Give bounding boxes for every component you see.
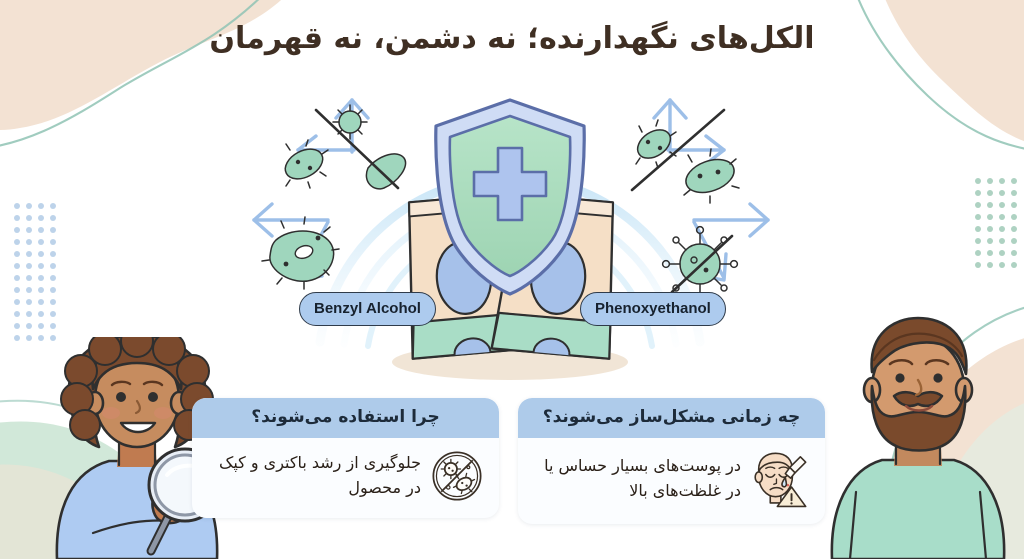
no-bacteria-icon xyxy=(429,448,485,504)
shield-and-tubes-illustration xyxy=(232,92,792,382)
sensitive-skin-warning-icon xyxy=(749,448,811,510)
germ-lower xyxy=(454,474,475,494)
page-title: الکل‌های نگهدارنده؛ نه دشمن، نه قهرمان xyxy=(0,18,1024,61)
pill-phenoxyethanol[interactable]: Phenoxyethanol xyxy=(580,292,726,326)
card-why-used-body: جلوگیری از رشد باکتری و کپک در محصول xyxy=(192,438,499,518)
card-when-problematic-body: در پوست‌های بسیار حساس یا در غلظت‌های با… xyxy=(518,438,825,524)
germ-blob-left-lower xyxy=(262,217,339,289)
character-bearded-man xyxy=(820,316,1024,559)
card-why-used-text: جلوگیری از رشد باکتری و کپک در محصول xyxy=(202,451,421,501)
woman-eye-left xyxy=(116,392,126,402)
card-why-used: چرا استفاده می‌شوند؟ xyxy=(192,398,499,518)
woman-eye-right xyxy=(148,392,158,402)
decor-dot-grid-right xyxy=(975,178,1023,274)
man-shirt xyxy=(832,460,1004,559)
germ-round-left xyxy=(333,105,367,139)
infographic-canvas: الکل‌های نگهدارنده؛ نه دشمن، نه قهرمان xyxy=(0,0,1024,559)
card-when-problematic: چه زمانی مشکل‌ساز می‌شوند؟ xyxy=(518,398,825,524)
card-when-problematic-text: در پوست‌های بسیار حساس یا در غلظت‌های با… xyxy=(528,454,741,504)
decor-dot-grid-left xyxy=(14,203,62,347)
card-why-used-header: چرا استفاده می‌شوند؟ xyxy=(192,398,499,438)
germ-upper xyxy=(441,460,460,479)
pill-benzyl-alcohol[interactable]: Benzyl Alcohol xyxy=(299,292,436,326)
man-eye-right xyxy=(933,373,942,382)
man-eye-left xyxy=(895,373,904,382)
card-when-problematic-header: چه زمانی مشکل‌ساز می‌شوند؟ xyxy=(518,398,825,438)
germ-rod-right xyxy=(681,149,739,203)
